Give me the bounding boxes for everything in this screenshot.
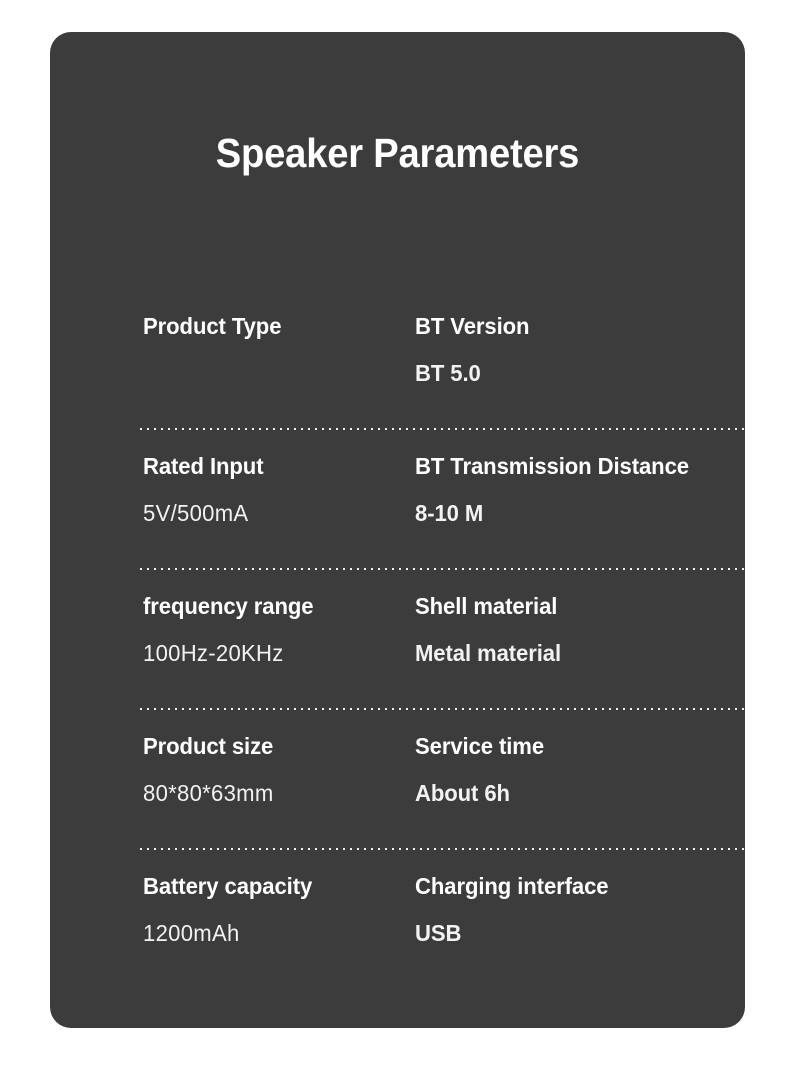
spec-value: 80*80*63mm: [143, 781, 399, 807]
spec-label: Product Type: [143, 314, 399, 340]
specs-table: Product TypeBT VersionBT 5.0Rated Input5…: [50, 290, 745, 990]
table-row-content: Rated Input5V/500mABT Transmission Dista…: [143, 454, 725, 527]
table-row: Battery capacity1200mAhCharging interfac…: [50, 850, 745, 990]
spec-label: Rated Input: [143, 454, 399, 480]
spec-value: BT 5.0: [415, 361, 706, 387]
spec-label: BT Transmission Distance: [415, 454, 706, 480]
spec-value: 8-10 M: [415, 501, 706, 527]
spec-label: frequency range: [143, 594, 399, 620]
table-row: Product size80*80*63mmService timeAbout …: [50, 710, 745, 850]
spec-value: 5V/500mA: [143, 501, 399, 527]
spec-value: USB: [415, 921, 706, 947]
table-row: frequency range100Hz-20KHzShell material…: [50, 570, 745, 710]
spec-cell-left: Product Type: [143, 314, 415, 362]
spec-value: 100Hz-20KHz: [143, 641, 399, 667]
table-row-content: Battery capacity1200mAhCharging interfac…: [143, 874, 725, 947]
spec-cell-right: Service timeAbout 6h: [415, 734, 725, 807]
spec-label: BT Version: [415, 314, 706, 340]
spec-label: Product size: [143, 734, 399, 760]
spec-value: 1200mAh: [143, 921, 399, 947]
spec-cell-left: Rated Input5V/500mA: [143, 454, 415, 527]
table-row-content: frequency range100Hz-20KHzShell material…: [143, 594, 725, 667]
spec-label: Charging interface: [415, 874, 706, 900]
spec-cell-right: Shell materialMetal material: [415, 594, 725, 667]
spec-cell-left: Product size80*80*63mm: [143, 734, 415, 807]
table-row-content: Product size80*80*63mmService timeAbout …: [143, 734, 725, 807]
spec-cell-right: BT Transmission Distance8-10 M: [415, 454, 725, 527]
speaker-parameters-card: Speaker Parameters Product TypeBT Versio…: [50, 32, 745, 1028]
table-row: Rated Input5V/500mABT Transmission Dista…: [50, 430, 745, 570]
spec-label: Shell material: [415, 594, 706, 620]
table-row: Product TypeBT VersionBT 5.0: [50, 290, 745, 430]
spec-cell-left: frequency range100Hz-20KHz: [143, 594, 415, 667]
spec-cell-right: Charging interfaceUSB: [415, 874, 725, 947]
spec-label: Service time: [415, 734, 706, 760]
spec-label: Battery capacity: [143, 874, 399, 900]
page-title: Speaker Parameters: [74, 129, 720, 178]
table-row-content: Product TypeBT VersionBT 5.0: [143, 314, 725, 387]
spec-value: Metal material: [415, 641, 706, 667]
spec-cell-left: Battery capacity1200mAh: [143, 874, 415, 947]
spec-cell-right: BT VersionBT 5.0: [415, 314, 725, 387]
spec-value: About 6h: [415, 781, 706, 807]
